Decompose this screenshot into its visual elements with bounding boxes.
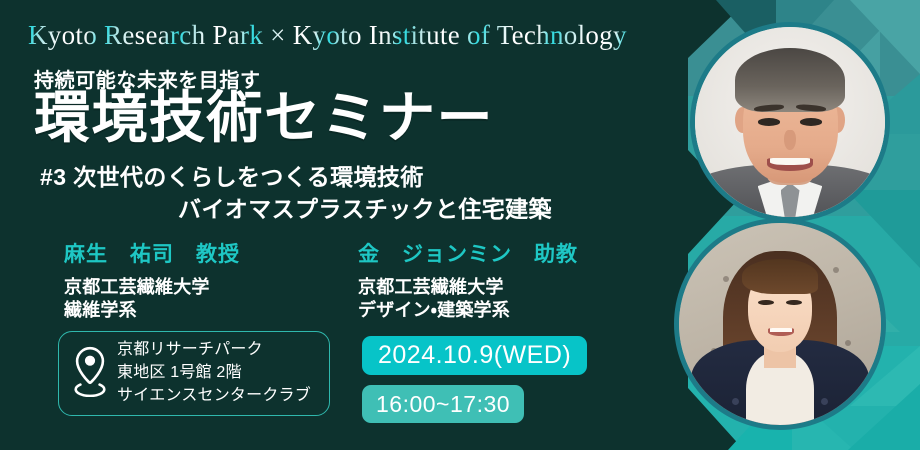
speaker-affiliation: 京都工芸繊維大学 デザイン・建築学系 bbox=[358, 276, 578, 323]
wall-speckle bbox=[723, 276, 729, 282]
eye-left bbox=[758, 300, 774, 305]
teeth-shape bbox=[770, 328, 792, 332]
blazer-button bbox=[732, 398, 739, 405]
speaker-name: 金 ジョンミン 助教 bbox=[358, 238, 578, 268]
session-subtitle-line-1: #3 次世代のくらしをつくる環境技術 bbox=[40, 158, 424, 192]
speaker-entry: 金 ジョンミン 助教 京都工芸繊維大学 デザイン・建築学系 bbox=[358, 238, 578, 323]
map-pin-icon bbox=[73, 345, 107, 402]
session-subtitle-line-2: バイオマスプラスチックと住宅建築 bbox=[178, 190, 552, 224]
speaker-entry: 麻生 祐司 教授 京都工芸繊維大学 繊維学系 bbox=[64, 238, 240, 323]
event-date-badge: 2024.10.9(WED) bbox=[362, 336, 587, 375]
speaker-affiliation: 京都工芸繊維大学 繊維学系 bbox=[64, 276, 240, 323]
speaker-name: 麻生 祐司 教授 bbox=[64, 238, 240, 268]
venue-line-3: サイエンスセンタークラブ bbox=[117, 387, 311, 404]
eye-right bbox=[786, 300, 802, 305]
venue-address: 京都リサーチパーク 東地区 1号館 2階 サイエンスセンタークラブ bbox=[117, 339, 311, 407]
partners-line: Kyoto Research Park × Kyoto Institute of… bbox=[28, 20, 627, 51]
wall-speckle bbox=[845, 340, 851, 346]
speaker-affiliation-line-2: 繊維学系 bbox=[64, 299, 240, 322]
venue-line-1: 京都リサーチパーク bbox=[117, 341, 263, 358]
speaker-affiliation-line-1: 京都工芸繊維大学 bbox=[358, 276, 578, 299]
speaker-affiliation-line-1: 京都工芸繊維大学 bbox=[64, 276, 240, 299]
speaker-1-photo bbox=[690, 22, 890, 222]
eye-right bbox=[800, 118, 823, 126]
venue-line-2: 東地区 1号館 2階 bbox=[117, 364, 242, 381]
eye-left bbox=[758, 118, 781, 126]
nose-shape bbox=[784, 130, 795, 151]
teeth-shape bbox=[770, 158, 810, 165]
fringe-shape bbox=[742, 259, 819, 293]
hair-shape bbox=[735, 48, 845, 113]
speaker-2-photo bbox=[674, 218, 886, 430]
event-time-badge: 16:00~17:30 bbox=[362, 385, 524, 423]
venue-box: 京都リサーチパーク 東地区 1号館 2階 サイエンスセンタークラブ bbox=[58, 331, 330, 416]
seminar-poster: Kyoto Research Park × Kyoto Institute of… bbox=[0, 0, 920, 450]
speaker-affiliation-line-2: デザイン・建築学系 bbox=[358, 299, 578, 322]
page-title: 環境技術セミナー bbox=[34, 88, 494, 148]
wall-speckle bbox=[833, 267, 839, 273]
poster-content: Kyoto Research Park × Kyoto Institute of… bbox=[0, 0, 690, 450]
